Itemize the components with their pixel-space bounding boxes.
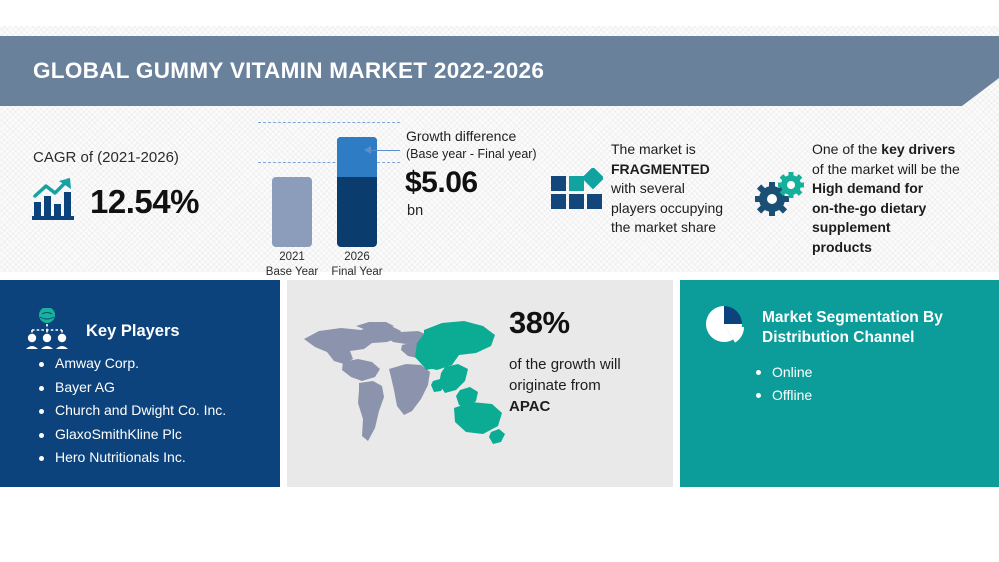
guide-line-base	[258, 162, 400, 163]
key-drivers-line1-pre: One of the	[812, 141, 881, 157]
list-item: Offline	[754, 384, 812, 407]
key-drivers-bold-line3: supplement	[812, 219, 891, 235]
callout-arrow-line	[367, 150, 400, 151]
bar-caption-2026: 2026 Final Year	[322, 250, 392, 280]
region-desc-line2: originate from	[509, 375, 669, 396]
region-percent: 38%	[509, 305, 570, 341]
segmentation-header: Market Segmentation By Distribution Chan…	[704, 304, 943, 351]
key-drivers-bold-line4: products	[812, 239, 872, 255]
growth-difference-label: Growth difference (Base year - Final yea…	[406, 127, 537, 163]
bar-caption-2021-sub: Base Year	[257, 265, 327, 280]
key-drivers-text: One of the key drivers of the market wil…	[812, 140, 992, 257]
cagr-row: 12.54%	[30, 178, 199, 225]
segmentation-title-line1: Market Segmentation By	[762, 308, 943, 328]
region-name: APAC	[509, 398, 550, 415]
footer: 17000+ Reports covering niche topics. Re…	[0, 487, 999, 562]
header-banner: GLOBAL GUMMY VITAMIN MARKET 2022-2026	[0, 36, 999, 106]
cagr-label: CAGR of (2021-2026)	[33, 149, 179, 166]
fragmented-line1: The market is	[611, 140, 801, 160]
gears-icon	[753, 172, 807, 221]
callout-arrow-head-icon	[364, 146, 371, 154]
segmentation-title-line2: Distribution Channel	[762, 328, 943, 348]
page-title: GLOBAL GUMMY VITAMIN MARKET 2022-2026	[33, 58, 544, 84]
bar-chart-growth-icon	[30, 178, 76, 225]
bar-2026-final-year	[337, 137, 377, 247]
bar-2021-base-year	[272, 177, 312, 247]
list-item: Bayer AG	[36, 376, 226, 400]
globe-people-network-icon	[24, 308, 70, 355]
list-item: Church and Dwight Co. Inc.	[36, 399, 226, 423]
region-desc-line1: of the growth will	[509, 354, 669, 375]
bar-caption-2026-year: 2026	[322, 250, 392, 265]
pie-chart-icon	[704, 304, 746, 351]
list-item: GlaxoSmithKline Plc	[36, 423, 226, 447]
key-drivers-line1-bold: key drivers	[881, 141, 955, 157]
bar-caption-2026-sub: Final Year	[322, 265, 392, 280]
infographic-root: GLOBAL GUMMY VITAMIN MARKET 2022-2026 CA…	[0, 0, 999, 562]
growth-difference-value: $5.06	[405, 166, 478, 200]
growth-difference-chart: 2021 Base Year 2026 Final Year	[258, 122, 408, 247]
bar-caption-2021: 2021 Base Year	[257, 250, 327, 280]
segmentation-panel: Market Segmentation By Distribution Chan…	[680, 280, 999, 487]
world-map-icon	[295, 308, 510, 463]
key-players-header: Key Players	[24, 308, 180, 355]
bar-caption-2021-year: 2021	[257, 250, 327, 265]
key-drivers-bold-line1: High demand for	[812, 180, 923, 196]
key-drivers-line2: of the market will be the	[812, 160, 992, 180]
segmentation-title: Market Segmentation By Distribution Chan…	[762, 308, 943, 348]
key-players-title: Key Players	[86, 322, 180, 341]
cagr-value: 12.54%	[90, 183, 199, 221]
key-drivers-bold-line2: on-the-go dietary	[812, 200, 926, 216]
list-item: Amway Corp.	[36, 352, 226, 376]
fragmented-emphasis: FRAGMENTED	[611, 161, 710, 177]
growth-difference-label-line2: (Base year - Final year)	[406, 145, 537, 163]
key-players-list: Amway Corp. Bayer AG Church and Dwight C…	[36, 352, 226, 470]
bar-growth-delta-segment	[337, 137, 377, 177]
growth-difference-label-line1: Growth difference	[406, 127, 537, 145]
segmentation-list: Online Offline	[754, 361, 812, 407]
region-panel: 38% of the growth will originate from AP…	[287, 280, 673, 487]
squares-diamond-icon	[551, 168, 603, 219]
list-item: Online	[754, 361, 812, 384]
key-players-panel: Key Players Amway Corp. Bayer AG Church …	[0, 280, 280, 487]
bottom-strip	[0, 553, 999, 562]
guide-line-top	[258, 122, 400, 123]
list-item: Hero Nutritionals Inc.	[36, 446, 226, 470]
region-description: of the growth will originate from APAC	[509, 354, 669, 417]
growth-difference-unit: bn	[407, 203, 423, 219]
